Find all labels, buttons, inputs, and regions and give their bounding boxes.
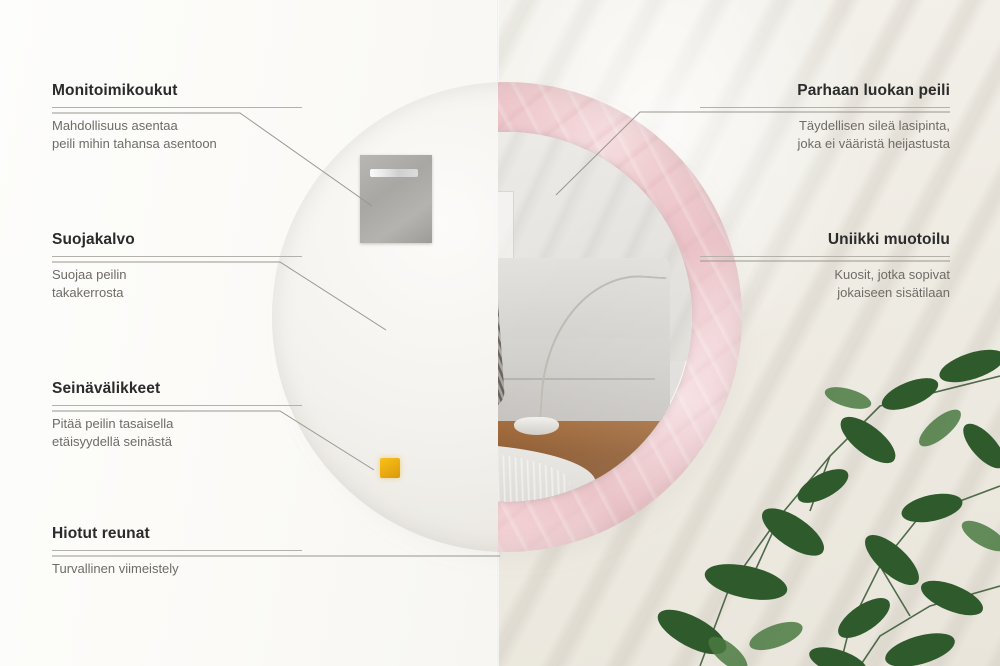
callout-rule bbox=[52, 256, 302, 257]
callout-description: Pitää peilin tasaisella etäisyydellä sei… bbox=[52, 415, 302, 452]
decorative-foliage bbox=[580, 336, 1000, 666]
callout-parhaan-luokan-peili: Parhaan luokan peili Täydellisen sileä l… bbox=[700, 82, 950, 154]
callout-title: Uniikki muotoilu bbox=[700, 231, 950, 249]
callout-description: Täydellisen sileä lasipinta, joka ei vää… bbox=[700, 117, 950, 154]
callout-rule bbox=[700, 256, 950, 257]
callout-description: Suojaa peilin takakerrosta bbox=[52, 266, 302, 303]
callout-hiotut-reunat: Hiotut reunat Turvallinen viimeistely bbox=[52, 525, 302, 578]
callout-rule bbox=[700, 107, 950, 108]
infographic-canvas: Monitoimikoukut Mahdollisuus asentaa pei… bbox=[0, 0, 1000, 666]
bracket-keyhole-slot bbox=[370, 169, 418, 177]
wall-spacer-pad bbox=[380, 458, 400, 478]
callout-suojakalvo: Suojakalvo Suojaa peilin takakerrosta bbox=[52, 231, 302, 303]
mounting-hook-bracket bbox=[360, 155, 432, 243]
callout-title: Hiotut reunat bbox=[52, 525, 302, 543]
callout-description: Kuosit, jotka sopivat jokaiseen sisätila… bbox=[700, 266, 950, 303]
callout-seinavalikkeet: Seinävälikkeet Pitää peilin tasaisella e… bbox=[52, 380, 302, 452]
callout-title: Monitoimikoukut bbox=[52, 82, 302, 100]
callout-rule bbox=[52, 107, 302, 108]
callout-rule bbox=[52, 405, 302, 406]
callout-title: Suojakalvo bbox=[52, 231, 302, 249]
callout-description: Turvallinen viimeistely bbox=[52, 560, 302, 578]
callout-description: Mahdollisuus asentaa peili mihin tahansa… bbox=[52, 117, 302, 154]
callout-uniikki-muotoilu: Uniikki muotoilu Kuosit, jotka sopivat j… bbox=[700, 231, 950, 303]
callout-rule bbox=[52, 550, 302, 551]
callout-monitoimikoukut: Monitoimikoukut Mahdollisuus asentaa pei… bbox=[52, 82, 302, 154]
callout-title: Seinävälikkeet bbox=[52, 380, 302, 398]
callout-title: Parhaan luokan peili bbox=[700, 82, 950, 100]
